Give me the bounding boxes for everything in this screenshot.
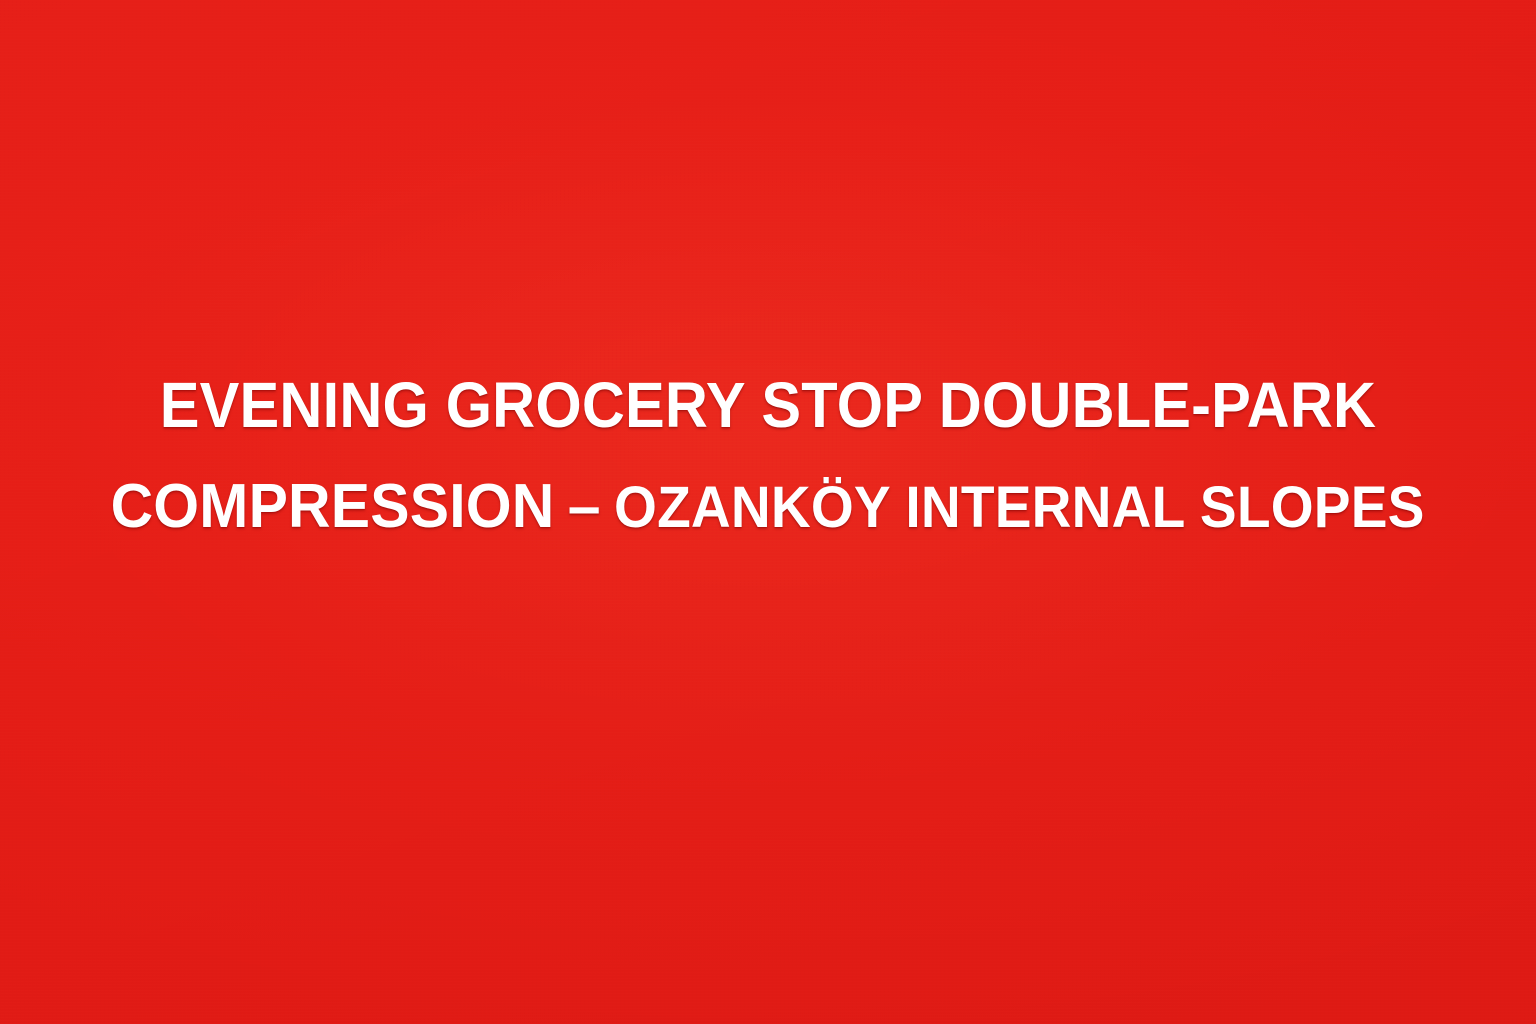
title-line-2-tail: OZANKÖY INTERNAL SLOPES xyxy=(614,473,1425,543)
title-line-2-separator-dash: – xyxy=(555,472,615,542)
title-line-2-lead: COMPRESSION xyxy=(111,472,555,542)
title-block: EVENING GROCERY STOP DOUBLE-PARK COMPRES… xyxy=(0,368,1536,543)
title-card-canvas: EVENING GROCERY STOP DOUBLE-PARK COMPRES… xyxy=(0,0,1536,1024)
title-line-2: COMPRESSION – OZANKÖY INTERNAL SLOPES xyxy=(111,472,1425,543)
title-line-1: EVENING GROCERY STOP DOUBLE-PARK xyxy=(160,368,1376,442)
